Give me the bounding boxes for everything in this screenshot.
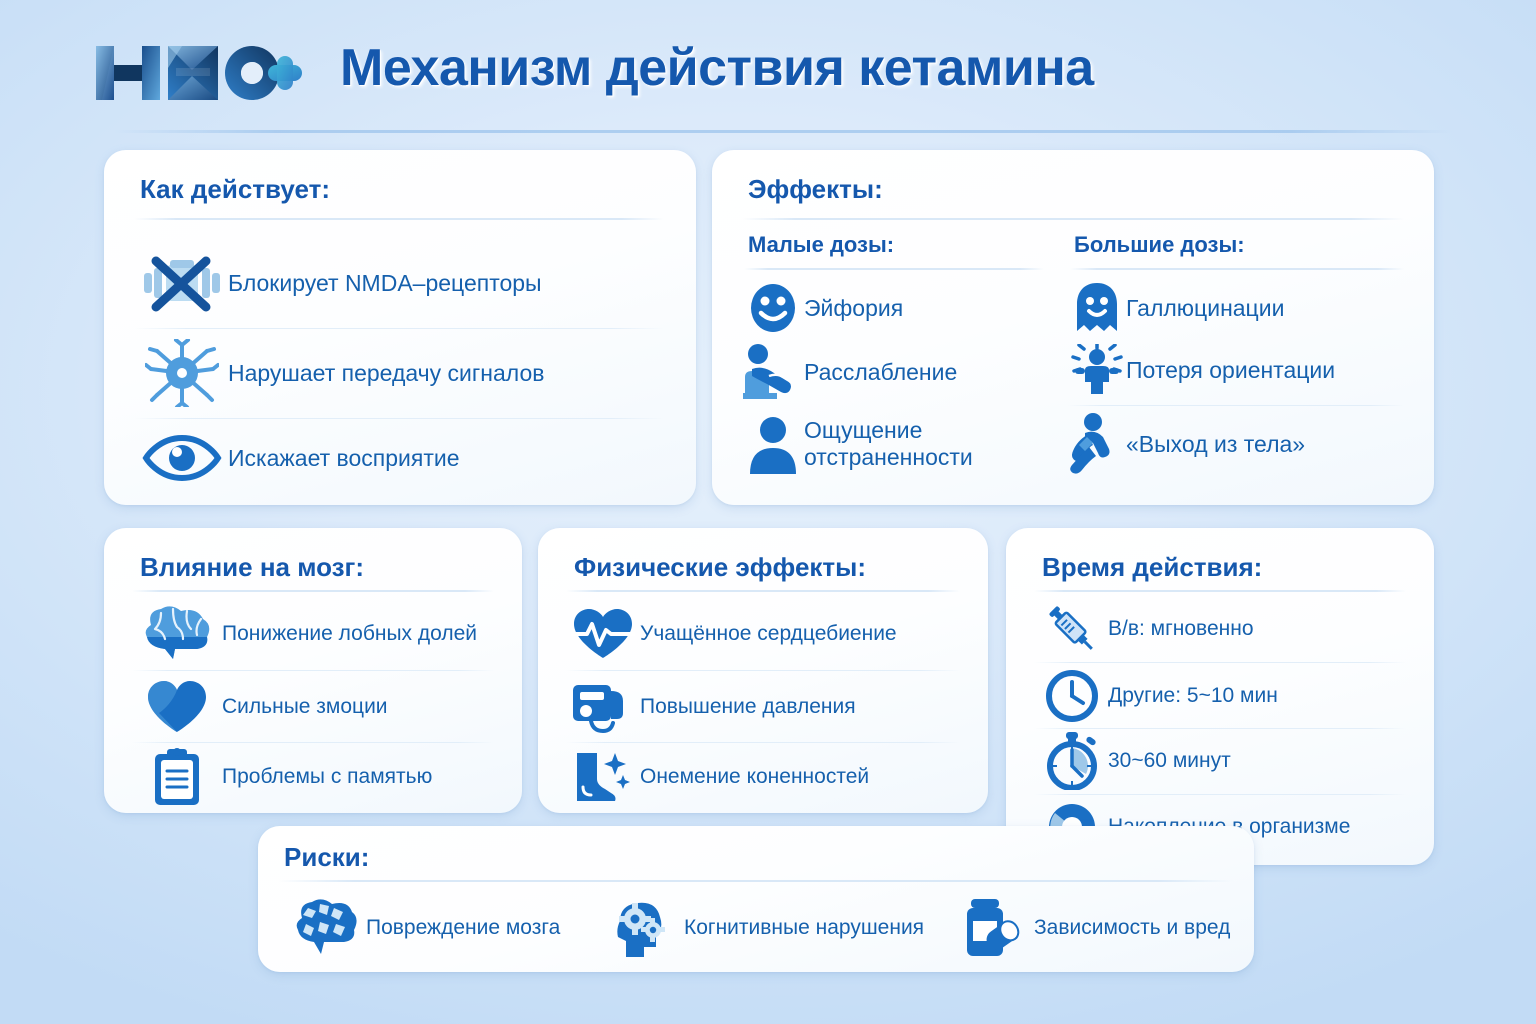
- list-item: 30~60 минут: [1036, 730, 1416, 792]
- list-item: Когнитивные нарушения: [602, 888, 952, 968]
- blocked-receptor-icon: [136, 251, 228, 315]
- list-item-label: Когнитивные нарушения: [684, 916, 924, 940]
- list-item: Эйфория: [742, 278, 1062, 338]
- list-item-label: Потеря ориентации: [1126, 357, 1335, 384]
- list-item-label: Ощущение отстраненности: [804, 417, 973, 470]
- card-physical-effects: Физические эффекты: Учащённое сердцебиен…: [538, 528, 988, 813]
- pill-bottle-icon: [952, 897, 1034, 959]
- list-item-label: Зависимость и вред: [1034, 916, 1230, 940]
- list-item-label: Понижение лобных долей: [222, 622, 477, 646]
- list-item-label: Расслабление: [804, 359, 957, 386]
- card-divider: [134, 218, 664, 220]
- row-divider: [132, 670, 494, 671]
- person-silhouette-icon: [742, 414, 804, 474]
- list-item-label: Проблемы с памятью: [222, 765, 432, 789]
- list-item: Искажает восприятие: [136, 422, 666, 494]
- list-item-label: Другие: 5~10 мин: [1108, 684, 1278, 708]
- heart-icon: [132, 679, 222, 735]
- syringe-icon: [1036, 600, 1108, 658]
- list-item-label: Учащённое сердцебиение: [640, 622, 897, 646]
- list-item-label: 30~60 минут: [1108, 749, 1231, 773]
- row-divider: [1034, 662, 1406, 663]
- list-item: Блокирует NMDA–рецепторы: [136, 242, 666, 324]
- card-duration: Время действия: В/в: мгновенно: [1006, 528, 1434, 865]
- list-item: Потеря ориентации: [1068, 340, 1418, 400]
- neo-plus-logo: [92, 38, 302, 108]
- list-item: Галлюцинации: [1068, 278, 1418, 338]
- card-divider: [742, 218, 1404, 220]
- subcolumn-divider: [1070, 268, 1404, 270]
- list-item: Расслабление: [742, 340, 1062, 404]
- list-item-label: Искажает восприятие: [228, 445, 460, 472]
- card-divider: [566, 590, 960, 592]
- list-item: Повреждение мозга: [284, 888, 604, 968]
- row-divider: [566, 670, 960, 671]
- list-item: Зависимость и вред: [952, 888, 1252, 968]
- list-item-label: Сильные змоции: [222, 695, 388, 719]
- list-item-label: В/в: мгновенно: [1108, 617, 1254, 641]
- disoriented-person-icon: [1068, 344, 1126, 396]
- list-item: В/в: мгновенно: [1036, 598, 1416, 660]
- list-item-label: Онемение коненностей: [640, 765, 869, 789]
- list-item-label: Повышение давления: [640, 695, 856, 719]
- header-divider: [114, 130, 1454, 133]
- list-item-label: Галлюцинации: [1126, 295, 1284, 322]
- list-item: Онемение коненностей: [566, 744, 970, 810]
- card-title-effects: Эффекты:: [748, 174, 883, 205]
- subcolumn-divider: [744, 268, 1044, 270]
- list-item: Нарушает передачу сигналов: [136, 332, 666, 414]
- list-item-label: «Выход из тела»: [1126, 431, 1305, 458]
- relaxing-person-icon: [742, 343, 804, 401]
- page-title: Механизм действия кетамина: [340, 38, 1094, 98]
- list-item: Учащённое сердцебиение: [566, 600, 970, 668]
- list-item: Другие: 5~10 мин: [1036, 666, 1416, 726]
- list-item: Проблемы с памятью: [132, 744, 502, 810]
- card-title-physical-effects: Физические эффекты:: [574, 552, 866, 583]
- list-item-label: Блокирует NMDA–рецепторы: [228, 270, 542, 297]
- card-divider: [1034, 590, 1406, 592]
- row-divider: [566, 742, 960, 743]
- card-title-how-it-works: Как действует:: [140, 174, 330, 205]
- clipboard-icon: [132, 747, 222, 807]
- neuron-icon: [136, 339, 228, 407]
- list-item: Повышение давления: [566, 674, 970, 740]
- clock-icon: [1036, 669, 1108, 723]
- ghost-icon: [1068, 281, 1126, 335]
- damaged-brain-icon: [284, 898, 366, 958]
- subtitle-low-dose: Малые дозы:: [748, 232, 894, 258]
- card-title-risks: Риски:: [284, 842, 369, 873]
- card-title-duration: Время действия:: [1042, 552, 1262, 583]
- smiley-face-icon: [742, 282, 804, 334]
- list-item-label: Эйфория: [804, 295, 903, 322]
- header: Механизм действия кетамина: [92, 32, 1452, 124]
- card-divider: [132, 590, 494, 592]
- head-gears-icon: [602, 897, 684, 959]
- infographic-canvas: Механизм действия кетамина Как действует…: [0, 0, 1536, 1024]
- row-divider: [134, 328, 664, 329]
- row-divider: [134, 418, 664, 419]
- eye-icon: [136, 434, 228, 482]
- falling-person-icon: [1068, 413, 1126, 475]
- brain-icon: [132, 605, 222, 663]
- list-item: Сильные змоции: [132, 674, 502, 740]
- row-divider: [1034, 794, 1406, 795]
- numb-foot-icon: [566, 749, 640, 805]
- stopwatch-icon: [1036, 732, 1108, 790]
- card-effects: Эффекты: Малые дозы: Эйфория: [712, 150, 1434, 505]
- card-brain-impact: Влияние на мозг: Понижение лобных долей: [104, 528, 522, 813]
- list-item: Ощущение отстраненности: [742, 406, 1072, 482]
- list-item-label: Повреждение мозга: [366, 916, 560, 940]
- card-title-brain-impact: Влияние на мозг:: [140, 552, 364, 583]
- card-divider: [278, 880, 1234, 882]
- list-item: Понижение лобных долей: [132, 600, 502, 668]
- heartbeat-icon: [566, 607, 640, 661]
- list-item: «Выход из тела»: [1068, 406, 1418, 482]
- list-item-label: Нарушает передачу сигналов: [228, 360, 544, 387]
- card-how-it-works: Как действует: Блокирует NMDA–рецепторы: [104, 150, 696, 505]
- row-divider: [132, 742, 494, 743]
- blood-pressure-monitor-icon: [566, 679, 640, 735]
- subtitle-high-dose: Большие дозы:: [1074, 232, 1245, 258]
- row-divider: [1034, 728, 1406, 729]
- card-risks: Риски: Повреждение мозга: [258, 826, 1254, 972]
